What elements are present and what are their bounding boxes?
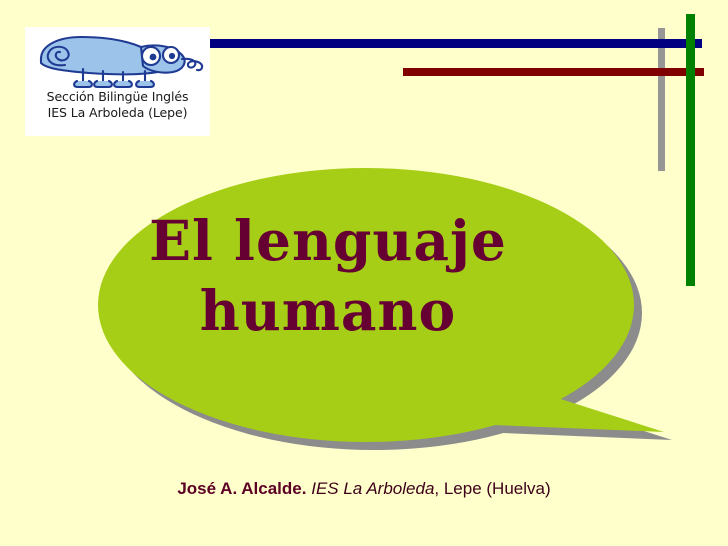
chameleon-icon [25,29,210,91]
slide-canvas: Sección Bilingüe Inglés IES La Arboleda … [0,0,728,546]
green-vertical-rule [686,14,695,286]
author-credit: José A. Alcalde. IES La Arboleda, Lepe (… [0,479,728,499]
school-name: IES La Arboleda [311,479,434,498]
author-name: José A. Alcalde. [177,479,306,498]
logo-caption-line-1: Sección Bilingüe Inglés [25,89,210,105]
slide-title: El lenguaje humano [118,206,538,347]
logo-caption-line-2: IES La Arboleda (Lepe) [25,105,210,121]
school-logo: Sección Bilingüe Inglés IES La Arboleda … [25,27,210,136]
school-place: , Lepe (Huelva) [434,479,550,498]
logo-caption: Sección Bilingüe Inglés IES La Arboleda … [25,89,210,120]
slide-title-line-2: humano [118,276,538,346]
navy-horizontal-rule [210,39,702,48]
darkred-horizontal-rule [403,68,704,76]
slide-title-line-1: El lenguaje [118,206,538,276]
gray-vertical-rule [658,28,665,171]
